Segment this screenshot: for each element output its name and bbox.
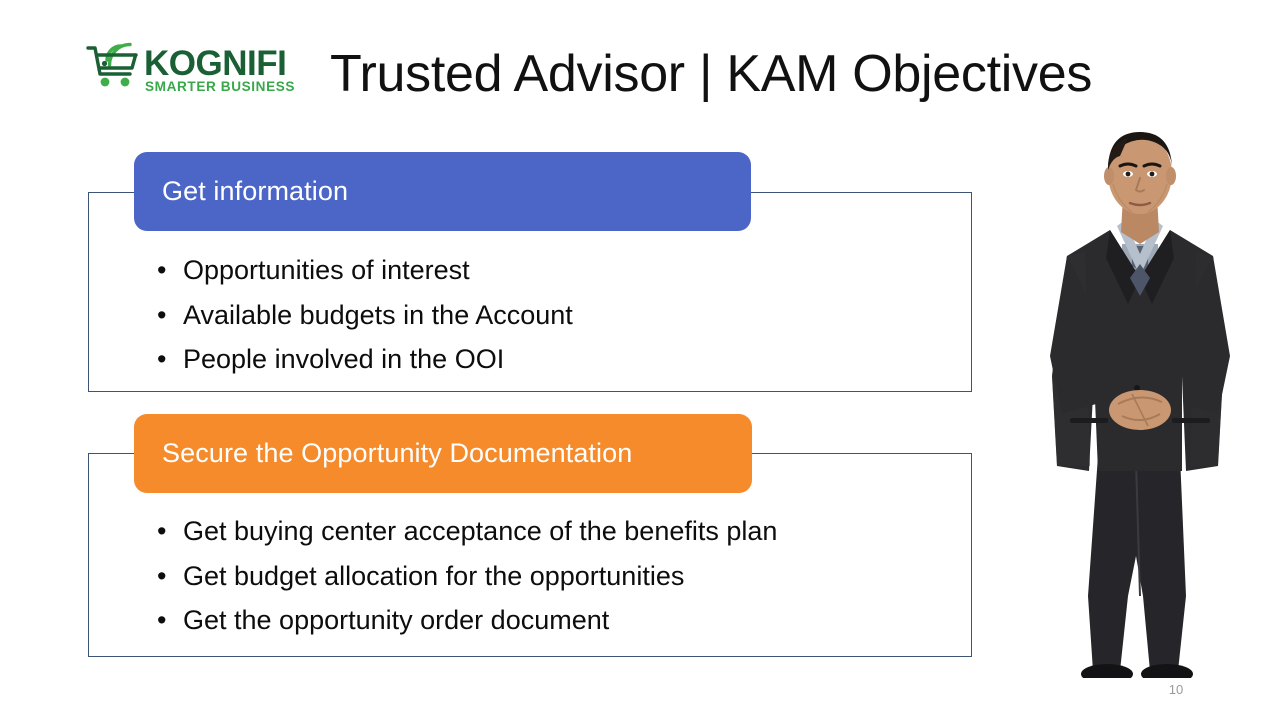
presentation-slide: KOGNIFI SMARTER BUSINESS Trusted Advisor… — [0, 0, 1280, 720]
slide-number: 10 — [1158, 682, 1194, 697]
kognifi-logo: KOGNIFI SMARTER BUSINESS — [86, 38, 302, 98]
list-item: Get budget allocation for the opportunit… — [157, 554, 777, 599]
section-banner-secure-documentation[interactable]: Secure the Opportunity Documentation — [134, 414, 752, 493]
list-item: Available budgets in the Account — [157, 293, 573, 338]
shopping-cart-icon — [88, 48, 136, 74]
list-item: Opportunities of interest — [157, 248, 573, 293]
kognifi-logo-svg: KOGNIFI SMARTER BUSINESS — [86, 38, 302, 98]
section-banner-label: Get information — [162, 176, 348, 207]
logo-wordmark: KOGNIFI — [144, 44, 286, 83]
cart-wheel-right-icon — [121, 78, 130, 87]
section-banner-label: Secure the Opportunity Documentation — [162, 438, 632, 469]
bullet-list-get-information: Opportunities of interest Available budg… — [157, 248, 573, 382]
wifi-dot-icon — [102, 61, 107, 66]
list-item: Get the opportunity order document — [157, 598, 777, 643]
list-item: People involved in the OOI — [157, 337, 573, 382]
list-item: Get buying center acceptance of the bene… — [157, 509, 777, 554]
logo-tagline: SMARTER BUSINESS — [145, 79, 295, 94]
page-title: Trusted Advisor | KAM Objectives — [330, 40, 1092, 108]
bullet-list-secure-documentation: Get buying center acceptance of the bene… — [157, 509, 777, 643]
section-banner-get-information[interactable]: Get information — [134, 152, 751, 231]
cart-wheel-left-icon — [101, 78, 110, 87]
businessman-illustration — [1010, 126, 1270, 678]
businessman-presenter-photo — [1010, 126, 1270, 678]
